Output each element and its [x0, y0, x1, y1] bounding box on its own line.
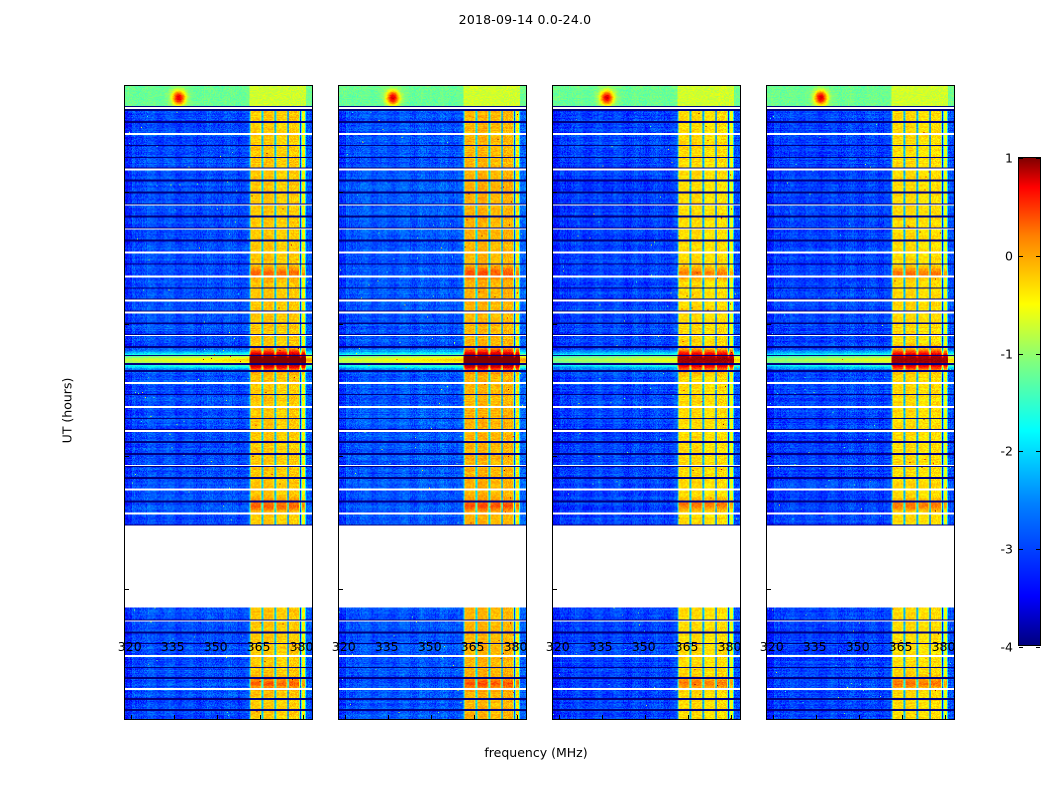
x-tick-label: 380: [718, 639, 742, 654]
x-tick-label: 365: [889, 639, 913, 654]
x-tick-label: 335: [375, 639, 399, 654]
x-tick-label: 335: [161, 639, 185, 654]
x-tick-label: 320: [760, 639, 784, 654]
x-tick-label: 335: [803, 639, 827, 654]
figure-canvas: 2018-09-14 0.0-24.0 XX, V6*V15=EA09*EA26…: [0, 0, 1050, 800]
colorbar-tick-mark: [1036, 549, 1040, 550]
x-tick-label: 320: [546, 639, 570, 654]
colorbar-tick-mark: [1019, 256, 1023, 257]
x-tick-label: 320: [332, 639, 356, 654]
colorbar-tick-label: -3: [1001, 542, 1013, 557]
colorbar-tick-mark: [1036, 256, 1040, 257]
x-tick-label: 380: [290, 639, 314, 654]
x-tick-label: 320: [118, 639, 142, 654]
x-tick-label: 365: [461, 639, 485, 654]
colorbar-tick-mark: [1036, 158, 1040, 159]
colorbar-tick-mark: [1019, 354, 1023, 355]
y-axis-label: UT (hours): [60, 331, 75, 491]
spectrogram-panel-yx[interactable]: YX, V6*V15=EA09*EA26 05101520: [766, 85, 955, 720]
colorbar-tick-mark: [1036, 354, 1040, 355]
x-tick-label: 350: [418, 639, 442, 654]
x-tick-label: 365: [675, 639, 699, 654]
colorbar-tick-mark: [1036, 451, 1040, 452]
heatmap-image-xx: [125, 86, 312, 719]
spectrogram-panel-xx[interactable]: XX, V6*V15=EA09*EA26 05101520: [124, 85, 313, 720]
x-tick-label: 350: [846, 639, 870, 654]
colorbar-tick-label: 0: [1005, 248, 1013, 263]
spectrogram-panel-yy[interactable]: YY, V6*V15=EA09*EA26 05101520: [338, 85, 527, 720]
heatmap-image-xy: [553, 86, 740, 719]
colorbar[interactable]: -4-3-2-101: [1018, 157, 1041, 646]
x-tick-label: 380: [932, 639, 956, 654]
colorbar-tick-label: -4: [1001, 640, 1013, 655]
heatmap-image-yx: [767, 86, 954, 719]
spectrogram-panel-xy[interactable]: XY, V6*V15=EA09*EA26 05101520: [552, 85, 741, 720]
figure-suptitle: 2018-09-14 0.0-24.0: [0, 12, 1050, 27]
colorbar-tick-label: 1: [1005, 151, 1013, 166]
x-tick-label: 350: [204, 639, 228, 654]
x-tick-label: 380: [504, 639, 528, 654]
colorbar-tick-mark: [1019, 647, 1023, 648]
x-tick-label: 365: [247, 639, 271, 654]
x-tick-label: 335: [589, 639, 613, 654]
x-tick-label: 350: [632, 639, 656, 654]
colorbar-tick-mark: [1036, 647, 1040, 648]
x-axis-label: frequency (MHz): [124, 745, 948, 760]
colorbar-tick-mark: [1019, 158, 1023, 159]
colorbar-tick-mark: [1019, 451, 1023, 452]
colorbar-tick-label: -1: [1001, 346, 1013, 361]
colorbar-tick-mark: [1019, 549, 1023, 550]
colorbar-tick-label: -2: [1001, 444, 1013, 459]
heatmap-image-yy: [339, 86, 526, 719]
